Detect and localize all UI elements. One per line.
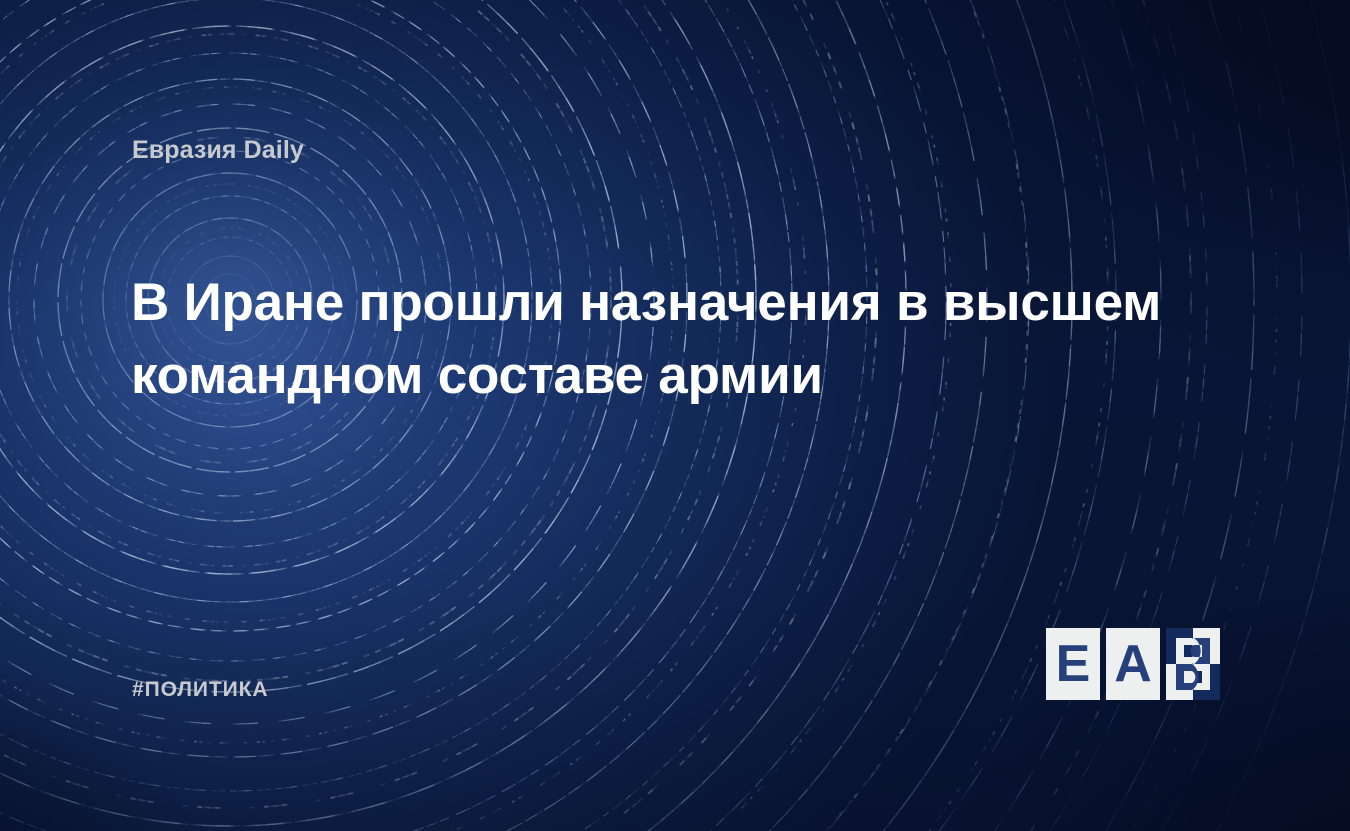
logo-letter-a-icon: A (1106, 628, 1160, 700)
news-share-card: Евразия Daily В Иране прошли назначения … (0, 0, 1350, 831)
logo-tile-a: A (1106, 628, 1160, 700)
headline-text: В Иране прошли назначения в высшем коман… (131, 267, 1211, 412)
logo-letter-d-split-icon (1166, 628, 1220, 700)
logo-tile-e: E (1046, 628, 1100, 700)
ead-logo: E A (1046, 628, 1221, 700)
brand-name: Евразия Daily (132, 136, 304, 165)
logo-tile-d (1166, 628, 1220, 700)
category-tag: #ПОЛИТИКА (132, 678, 268, 702)
logo-letter-e-icon: E (1046, 628, 1100, 700)
card-content: Евразия Daily В Иране прошли назначения … (0, 0, 1350, 831)
